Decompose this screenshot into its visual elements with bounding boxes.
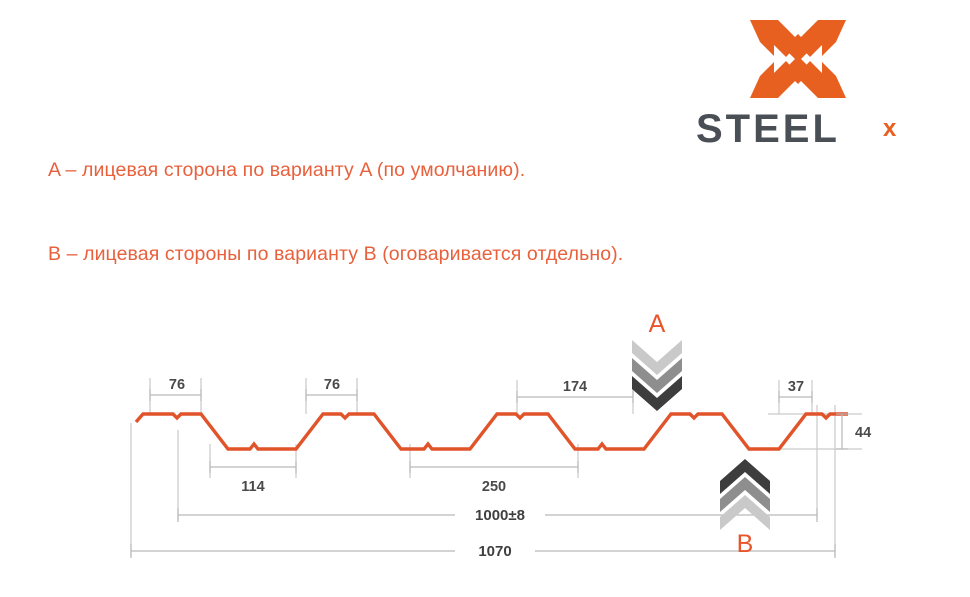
dimension-label: 44 — [855, 425, 871, 441]
dimension-label: 114 — [241, 479, 264, 495]
dimension-76-mid: 76 — [306, 375, 357, 401]
chevron-up-icon — [720, 459, 770, 530]
dimension-label: 76 — [169, 377, 185, 393]
side-label-a: A — [649, 310, 666, 338]
dimension-label: 76 — [324, 377, 340, 393]
dimension-label: 174 — [563, 379, 587, 395]
side-indicator-a: A — [632, 310, 682, 411]
dimension-174-pitch: 174 — [517, 377, 633, 403]
side-label-b: B — [737, 530, 754, 558]
dimension-114: 114 — [210, 461, 296, 495]
profile-technical-drawing: 76 76 174 37 44 114 250 — [0, 0, 970, 597]
dimension-label: 1070 — [478, 543, 511, 560]
dimension-label: 250 — [482, 479, 506, 495]
dimension-label: 37 — [788, 379, 804, 395]
dimension-1070: 1070 — [131, 543, 835, 560]
chevron-down-icon — [632, 340, 682, 411]
side-indicator-b: B — [720, 459, 770, 558]
dimension-label: 1000±8 — [475, 507, 525, 524]
dimension-76-left: 76 — [150, 375, 201, 401]
dimension-44-height: 44 — [836, 414, 871, 449]
dimension-37: 37 — [779, 377, 812, 403]
profile-outline — [136, 414, 848, 449]
dimension-250: 250 — [410, 461, 578, 495]
